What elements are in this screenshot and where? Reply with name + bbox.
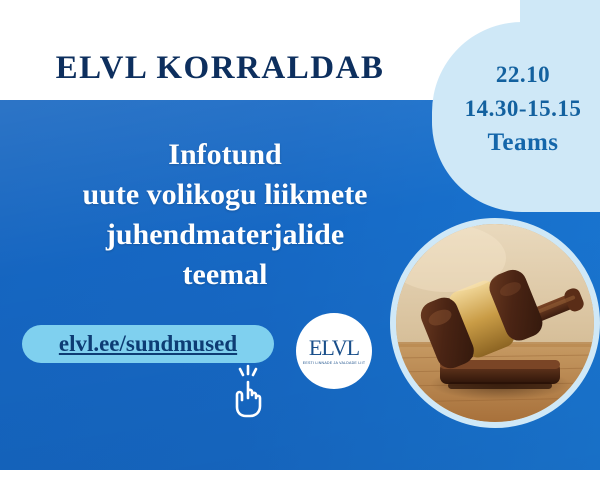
website-link-label: elvl.ee/sundmused (59, 331, 237, 357)
headline-line-4: teemal (10, 255, 440, 295)
gavel-photo-frame (390, 218, 600, 428)
event-date: 22.10 (452, 58, 594, 92)
elvl-logo-caption: EESTI LINNADE JA VALDADE LIIT (303, 361, 365, 365)
date-panel-corner (520, 0, 600, 30)
poster-title: ELVL KORRALDAB (0, 50, 440, 87)
pointing-hand-icon (228, 362, 280, 420)
headline-line-3: juhendmaterjalide (10, 215, 440, 255)
gavel-photo (396, 224, 594, 422)
date-time-block: 22.10 14.30-15.15 Teams (452, 58, 594, 160)
poster-canvas: 22.10 14.30-15.15 Teams ELVL KORRALDAB I… (0, 0, 600, 503)
poster-headline: Infotund uute volikogu liikmete juhendma… (10, 135, 440, 295)
event-time: 14.30-15.15 (452, 92, 594, 126)
elvl-logo: ELVL EESTI LINNADE JA VALDADE LIIT (296, 313, 372, 389)
headline-line-1: Infotund (10, 135, 440, 175)
bottom-white-band (0, 470, 600, 503)
elvl-logo-mark: ELVL (309, 338, 359, 358)
website-link-button[interactable]: elvl.ee/sundmused (22, 325, 274, 363)
headline-line-2: uute volikogu liikmete (10, 175, 440, 215)
event-platform: Teams (452, 126, 594, 160)
